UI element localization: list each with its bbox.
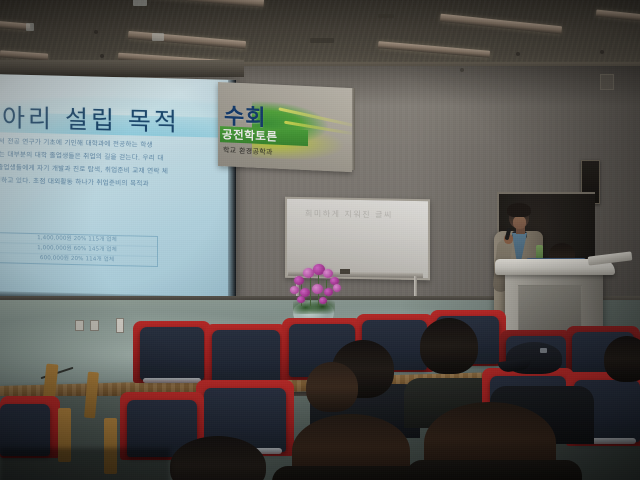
seat-cushion	[140, 327, 204, 380]
ceiling-sensor	[94, 30, 98, 34]
cap-logo	[540, 348, 547, 353]
lecture-hall-photo: 동아리 설립 목적 대학에서 전공 연구가 기초에 기인해 대학과에 전공하는 …	[0, 0, 640, 480]
ceiling-vent	[378, 14, 394, 18]
orchid-bloom	[297, 296, 305, 303]
projection-screen: 동아리 설립 목적 대학에서 전공 연구가 기초에 기인해 대학과에 전공하는 …	[0, 74, 236, 302]
presenter-hair	[507, 203, 531, 217]
orchid-bloom	[324, 288, 333, 296]
screen-vignette	[0, 74, 236, 302]
orchid-bloom	[290, 286, 299, 294]
wall-outlet	[75, 320, 84, 331]
wall-fixture-mark	[600, 74, 614, 90]
whiteboard-erased-text: 희미하게 지워진 글씨	[305, 208, 409, 222]
seat-top-rail	[143, 378, 201, 383]
wall-outlet	[90, 320, 99, 331]
wall-switch	[116, 318, 124, 333]
audience-shoulders-foreground	[406, 460, 582, 480]
ceiling-sensor	[516, 52, 520, 56]
audience-head	[604, 336, 640, 382]
event-banner: 수회 공전학토른 학교 환경공학과	[218, 82, 352, 172]
foreground-shadow	[0, 448, 170, 480]
ceiling-sensor	[600, 50, 604, 54]
ceiling-light-slot	[26, 23, 34, 31]
orchid-bloom	[312, 284, 323, 294]
orchid-bloom	[319, 297, 327, 304]
whiteboard-clip	[340, 269, 350, 274]
ceiling-light-slot	[133, 0, 147, 6]
presenter-face	[513, 216, 526, 229]
ceiling-sensor	[100, 54, 104, 58]
ceiling-vent	[310, 38, 334, 43]
ceiling-light-slot	[152, 33, 164, 41]
seat-cushion	[212, 330, 280, 385]
banner-support-pole	[352, 88, 355, 170]
wall-dot	[460, 68, 464, 72]
orchid-bloom	[294, 276, 304, 285]
orchid-bloom	[333, 284, 341, 292]
audience-head	[420, 318, 478, 374]
audience-head	[306, 362, 358, 412]
